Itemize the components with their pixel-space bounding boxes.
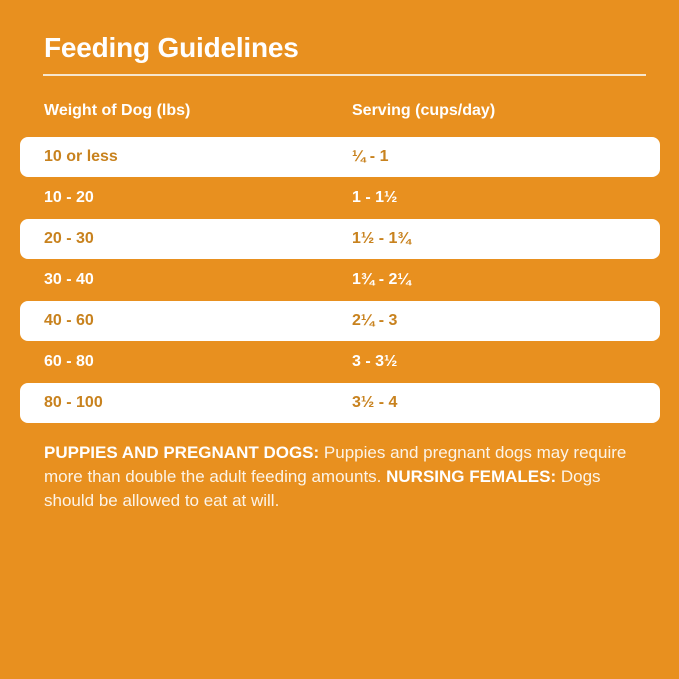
row-pill-background (20, 219, 660, 259)
note-label-puppies: PUPPIES AND PREGNANT DOGS: (44, 443, 319, 462)
page-title: Feeding Guidelines (44, 31, 299, 65)
feeding-guidelines-panel: Feeding Guidelines Weight of Dog (lbs) S… (0, 0, 679, 679)
note-label-nursing: NURSING FEMALES: (386, 467, 556, 486)
cell-weight: 10 - 20 (44, 178, 94, 218)
cell-serving: 1½ - 1¾ (352, 219, 411, 259)
cell-serving: 1¾ - 2¼ (352, 260, 411, 300)
cell-weight: 30 - 40 (44, 260, 94, 300)
row-pill-background (20, 383, 660, 423)
column-header-weight: Weight of Dog (lbs) (44, 101, 190, 121)
table-column-headers: Weight of Dog (lbs) Serving (cups/day) (0, 101, 679, 127)
cell-serving: 3 - 3½ (352, 342, 397, 382)
cell-serving: ¼ - 1 (352, 137, 388, 177)
table-row: 80 - 1003½ - 4 (0, 383, 679, 423)
table-row: 20 - 301½ - 1¾ (0, 219, 679, 259)
feeding-table: 10 or less¼ - 110 - 201 - 1½20 - 301½ - … (0, 137, 679, 424)
cell-serving: 3½ - 4 (352, 383, 397, 423)
cell-weight: 10 or less (44, 137, 118, 177)
table-row: 40 - 602¼ - 3 (0, 301, 679, 341)
column-header-serving: Serving (cups/day) (352, 101, 495, 121)
feeding-note: PUPPIES AND PREGNANT DOGS: Puppies and p… (44, 441, 644, 513)
table-row: 60 - 803 - 3½ (0, 342, 679, 382)
table-row: 10 - 201 - 1½ (0, 178, 679, 218)
table-row: 10 or less¼ - 1 (0, 137, 679, 177)
cell-serving: 2¼ - 3 (352, 301, 397, 341)
cell-serving: 1 - 1½ (352, 178, 397, 218)
title-divider (43, 74, 646, 76)
cell-weight: 60 - 80 (44, 342, 94, 382)
table-row: 30 - 401¾ - 2¼ (0, 260, 679, 300)
cell-weight: 80 - 100 (44, 383, 103, 423)
cell-weight: 40 - 60 (44, 301, 94, 341)
row-pill-background (20, 301, 660, 341)
cell-weight: 20 - 30 (44, 219, 94, 259)
